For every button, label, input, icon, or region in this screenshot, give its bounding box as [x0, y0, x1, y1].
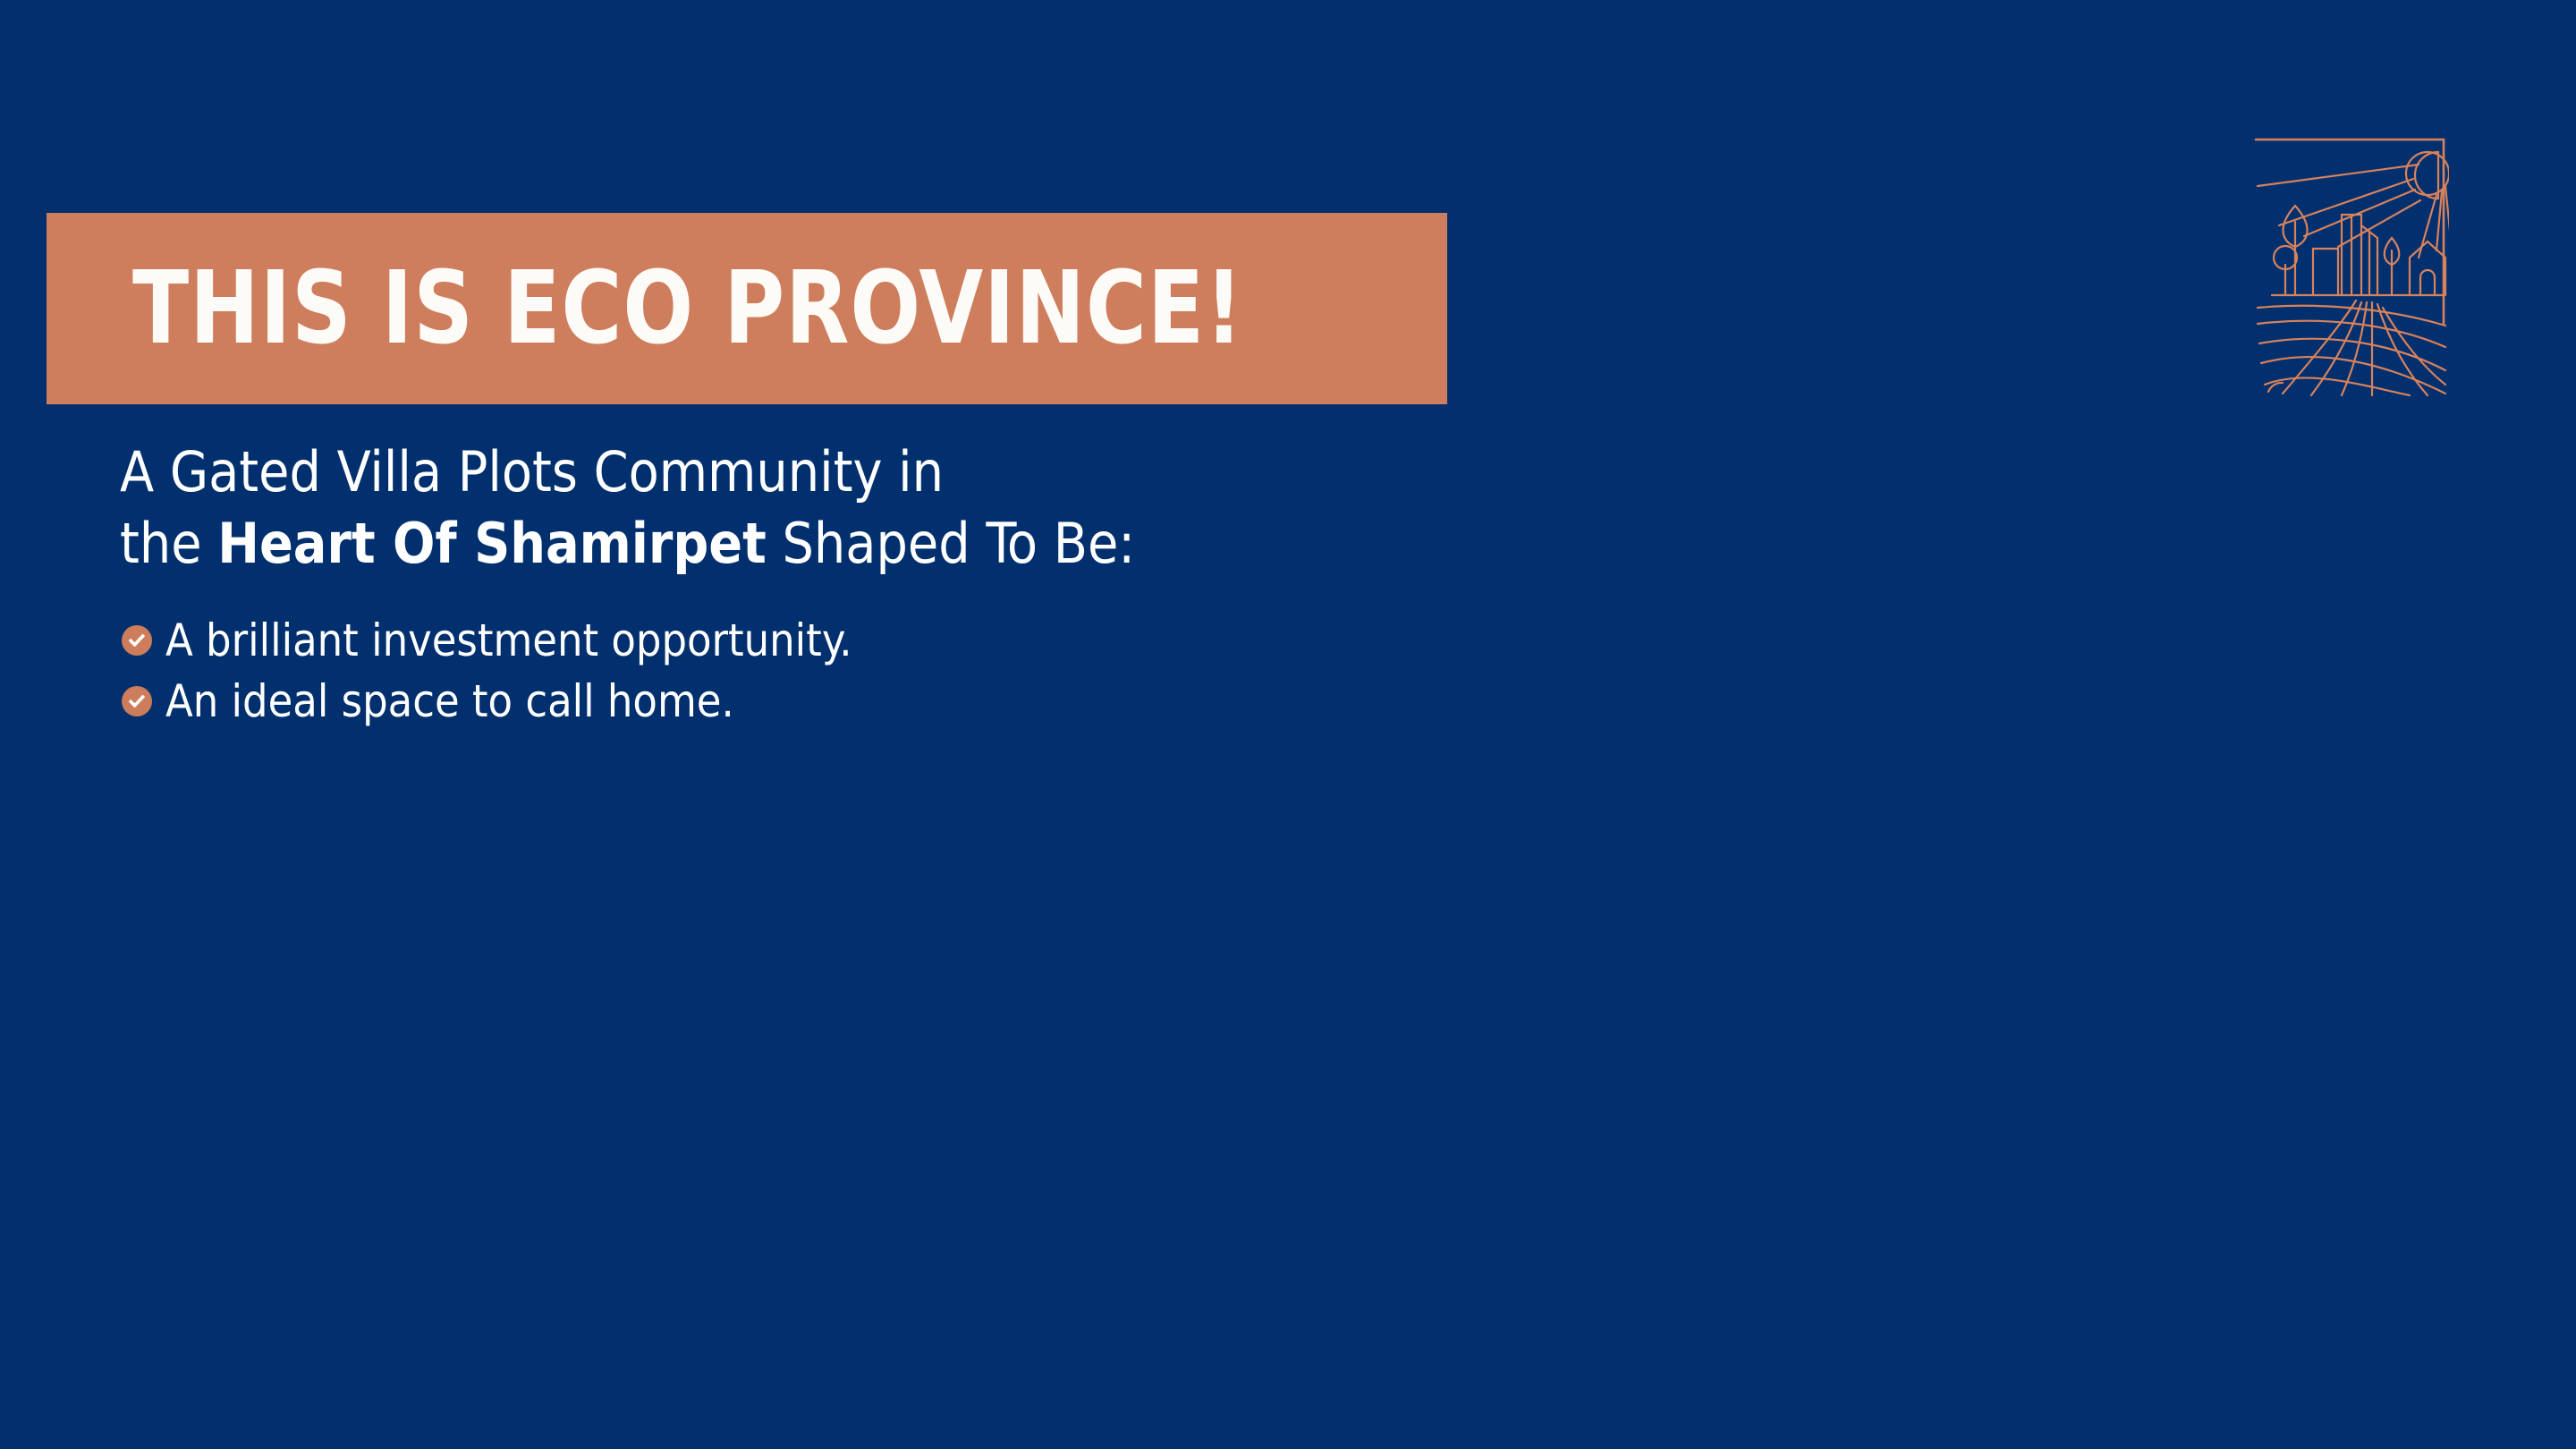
benefits-list: A brilliant investment opportunity. An i…: [122, 610, 852, 732]
subheading-line-2-highlight: Heart Of Shamirpet: [217, 511, 767, 576]
subheading-line-2-suffix: Shaped To Be:: [767, 511, 1135, 576]
list-item-label: An ideal space to call home.: [165, 679, 734, 724]
subheading-line-2-prefix: the: [120, 511, 217, 576]
page-title: THIS IS ECO PROVINCE!: [132, 258, 1243, 359]
list-item: A brilliant investment opportunity.: [122, 610, 852, 671]
subheading-line-1: A Gated Villa Plots Community in: [120, 436, 1135, 508]
headline-banner: THIS IS ECO PROVINCE!: [47, 213, 1447, 404]
subheading: A Gated Villa Plots Community in the Hea…: [120, 436, 1135, 580]
check-circle-icon: [122, 686, 152, 716]
subheading-line-2: the Heart Of Shamirpet Shaped To Be:: [120, 508, 1135, 580]
list-item-label: A brilliant investment opportunity.: [165, 618, 852, 663]
eco-province-logo: [2252, 132, 2449, 399]
slide-canvas: THIS IS ECO PROVINCE! A Gated Villa Plot…: [0, 0, 2576, 1449]
list-item: An ideal space to call home.: [122, 671, 852, 732]
check-circle-icon: [122, 625, 152, 656]
